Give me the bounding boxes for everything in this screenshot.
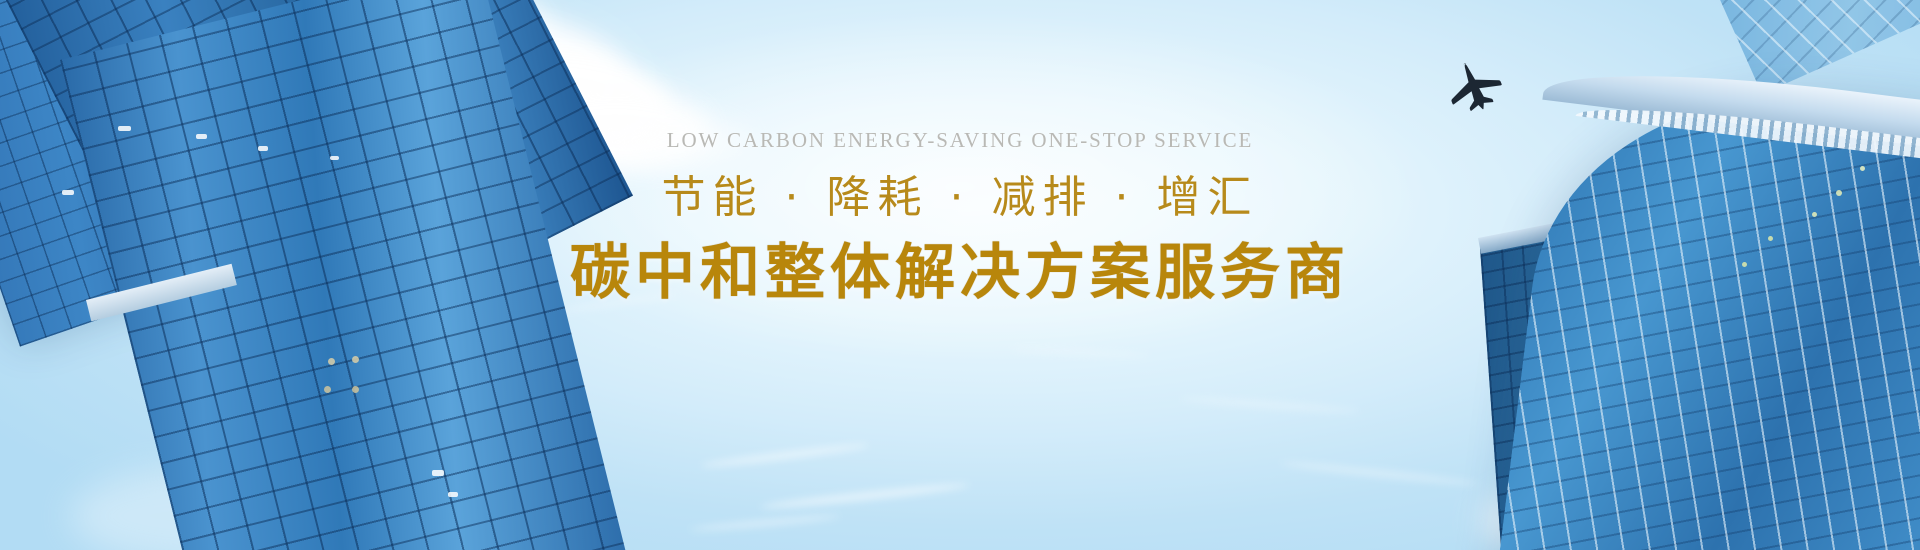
window-glint bbox=[1836, 190, 1842, 196]
window-glint bbox=[1812, 212, 1817, 217]
window-glint bbox=[62, 190, 74, 195]
window-glint bbox=[352, 386, 359, 393]
window-glint bbox=[196, 134, 207, 139]
hero-banner: LOW CARBON ENERGY-SAVING ONE-STOP SERVIC… bbox=[0, 0, 1920, 550]
cloud-icon bbox=[600, 118, 750, 166]
window-glint bbox=[324, 386, 331, 393]
window-glint bbox=[432, 470, 444, 476]
airplane-icon bbox=[1438, 56, 1508, 114]
window-glint bbox=[1742, 262, 1747, 267]
window-glint bbox=[330, 156, 339, 160]
window-glint bbox=[118, 126, 131, 131]
window-glint bbox=[448, 492, 458, 497]
window-glint bbox=[328, 358, 335, 365]
window-glint bbox=[1768, 236, 1773, 241]
window-glint bbox=[1860, 166, 1865, 171]
window-glint bbox=[258, 146, 268, 151]
window-glint bbox=[352, 356, 359, 363]
